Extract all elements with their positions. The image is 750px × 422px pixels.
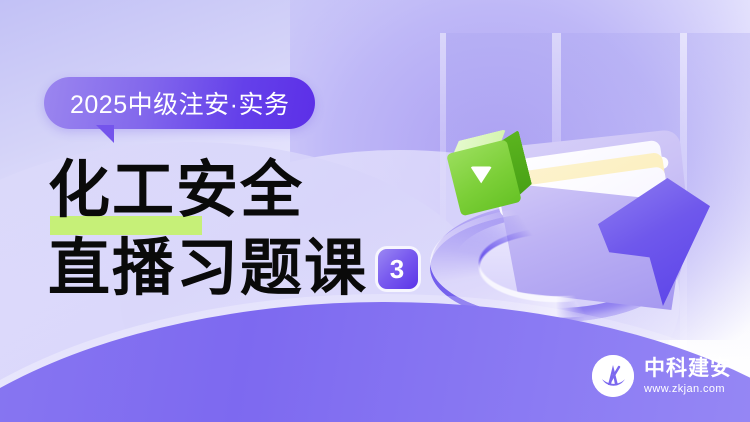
headline-line-1-text: 化工安全 <box>48 157 304 225</box>
headline-line-2: 直播习题课 3 <box>48 230 478 308</box>
course-banner: 2025中级注安·实务 化工安全 直播习题课 3 中科建安 www.zkjan.… <box>0 0 750 422</box>
headline-line-2-text: 直播习题课 <box>48 230 368 308</box>
category-pill-label: 2025中级注安·实务 <box>70 85 289 121</box>
brand-logo: 中科建安 www.zkjan.com <box>592 355 732 397</box>
brand-logo-text: 中科建安 www.zkjan.com <box>644 358 732 395</box>
brand-name: 中科建安 <box>644 358 732 379</box>
headline-line-1: 化工安全 <box>48 152 478 230</box>
episode-badge: 3 <box>378 249 418 289</box>
brand-url: www.zkjan.com <box>644 384 732 395</box>
pill-tail <box>86 125 114 143</box>
headline-block: 化工安全 直播习题课 3 <box>48 152 478 308</box>
zkjan-logo-icon <box>592 355 634 397</box>
category-pill: 2025中级注安·实务 <box>44 77 315 129</box>
